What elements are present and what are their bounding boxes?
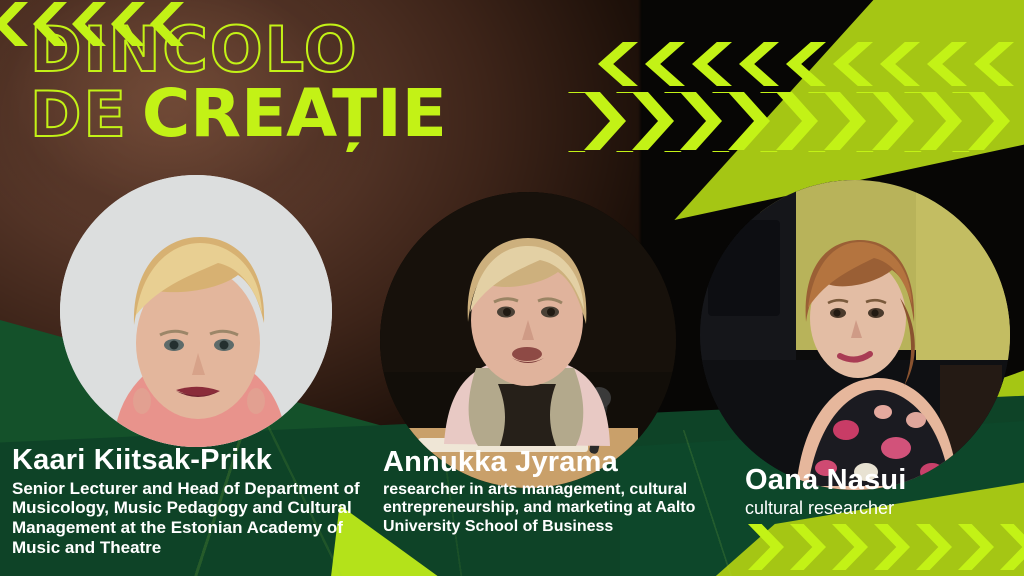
chevron-glyph-icon [824, 92, 866, 150]
speaker-role-1: Senior Lecturer and Head of Department o… [12, 479, 372, 559]
speaker-name-1: Kaari Kiitsak-Prikk [12, 446, 372, 476]
speaker-portrait-3 [700, 180, 1010, 490]
chevron-glyph-icon [968, 92, 1010, 150]
chevron-glyph-icon [786, 42, 826, 86]
chevron-glyph-icon [832, 524, 868, 570]
chevron-glyph-icon [974, 42, 1014, 86]
chevron-glyph-icon [748, 524, 784, 570]
chevron-glyph-icon [880, 42, 920, 86]
chevron-glyph-icon [632, 92, 674, 150]
chevron-glyph-icon [598, 42, 638, 86]
chevron-glyph-icon [739, 42, 779, 86]
chevron-glyph-icon [728, 92, 770, 150]
title-line-de: DE [30, 85, 128, 145]
speaker-info-1: Kaari Kiitsak-Prikk Senior Lecturer and … [12, 446, 372, 558]
chevron-glyph-icon [833, 42, 873, 86]
chevron-glyph-icon [920, 92, 962, 150]
speaker-name-2: Annukka Jyrama [383, 448, 723, 478]
poster-canvas: DINCOLO DE CREAȚIE [0, 0, 1024, 576]
chevron-glyph-icon [872, 92, 914, 150]
speaker-info-2: Annukka Jyrama researcher in arts manage… [383, 448, 723, 537]
chevron-glyph-icon [874, 524, 910, 570]
chevron-glyph-icon [916, 524, 952, 570]
speaker-role-3: cultural researcher [745, 498, 1024, 519]
title-line-dincolo: DINCOLO [30, 20, 447, 80]
poster-title: DINCOLO DE CREAȚIE [30, 20, 447, 145]
chevron-row-header-right [584, 92, 1024, 150]
speaker-portrait-1 [60, 175, 332, 447]
speaker-portrait-2 [380, 192, 676, 488]
chevron-row-bottom-right [748, 524, 1024, 570]
title-line-creatie: CREAȚIE [142, 82, 447, 145]
chevron-glyph-icon [680, 92, 722, 150]
speaker-role-2: researcher in arts management, cultural … [383, 481, 723, 537]
chevron-glyph-icon [584, 92, 626, 150]
chevron-glyph-icon [790, 524, 826, 570]
speaker-info-3: Oana Nasui cultural researcher [745, 466, 1024, 519]
chevron-glyph-icon [0, 2, 28, 46]
chevron-glyph-icon [927, 42, 967, 86]
chevron-glyph-icon [958, 524, 994, 570]
chevron-glyph-icon [1000, 524, 1024, 570]
chevron-glyph-icon [692, 42, 732, 86]
speaker-name-3: Oana Nasui [745, 466, 1024, 496]
chevron-row-header-left [598, 42, 1024, 86]
chevron-glyph-icon [645, 42, 685, 86]
chevron-glyph-icon [776, 92, 818, 150]
